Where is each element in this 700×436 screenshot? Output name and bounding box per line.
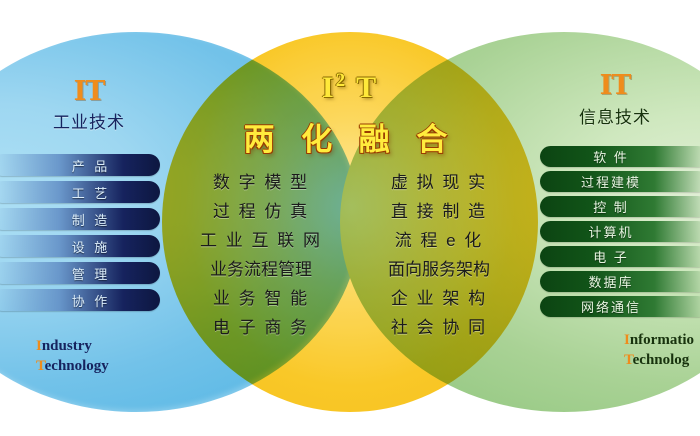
pill-item[interactable]: 电 子 [540,246,700,267]
right-caption-rest-technology: echnolog [633,352,690,368]
pill-item[interactable]: 网络通信 [540,296,700,317]
pill-label: 制 造 [42,210,111,229]
pill-label: 过程建模 [581,172,667,191]
right-caption-rest-information: nformatio [630,332,694,348]
term-item: 直 接 制 造 [354,197,524,226]
center-column-right: 虚 拟 现 实 直 接 制 造 流 程 e 化 面向服务架构 企 业 架 构 社… [354,168,524,342]
term-item: 数 字 模 型 [176,168,346,197]
pill-label: 数据库 [588,272,659,291]
term-item: 虚 拟 现 实 [354,168,524,197]
left-it-logo: IT [14,78,164,105]
center-column-left: 数 字 模 型 过 程 仿 真 工 业 互 联 网 业务流程管理 业 务 智 能… [176,168,346,342]
left-caption-rest-technology: echnology [45,358,109,374]
pill-item[interactable]: 过程建模 [540,171,700,192]
term-item: 企 业 架 构 [354,284,524,313]
left-caption-initial-t: T [36,358,45,374]
pill-label: 协 作 [42,291,111,310]
left-caption-rest-industry: ndustry [42,338,92,354]
right-caption-line-2: Technolog [624,350,694,370]
pill-item[interactable]: 产 品 [0,154,160,176]
pill-item[interactable]: 设 施 [0,235,160,257]
pill-label: 工 艺 [42,183,111,202]
term-item: 社 会 协 同 [354,313,524,342]
pill-item[interactable]: 控 制 [540,196,700,217]
right-header: IT 信息技术 [540,72,690,128]
left-caption-line-1: Industry [36,336,109,356]
pill-label: 产 品 [42,156,111,175]
pill-label: 控 制 [593,197,655,216]
pill-item[interactable]: 工 艺 [0,181,160,203]
pill-item[interactable]: 软 件 [540,146,700,167]
right-caption: Informatio Technolog [624,330,694,371]
term-item: 业务流程管理 [176,255,346,284]
left-title: 工业技术 [14,108,164,133]
pill-item[interactable]: 管 理 [0,262,160,284]
pill-label: 网络通信 [581,297,667,316]
term-item: 过 程 仿 真 [176,197,346,226]
pill-item[interactable]: 制 造 [0,208,160,230]
pill-label: 计算机 [588,222,659,241]
pill-item[interactable]: 计算机 [540,221,700,242]
industry-technology-pill-list: 产 品 工 艺 制 造 设 施 管 理 协 作 [0,154,160,316]
pill-label: 管 理 [42,264,111,283]
right-caption-line-1: Informatio [624,330,694,350]
acronym-i: I [322,71,336,104]
right-caption-initial-t: T [624,352,633,368]
acronym-superscript: 2 [336,70,348,91]
left-header: IT 工业技术 [14,78,164,133]
pill-label: 软 件 [593,147,655,166]
term-item: 工 业 互 联 网 [176,226,346,255]
center-headline: 两 化 融 合 [162,114,538,159]
center-term-columns: 数 字 模 型 过 程 仿 真 工 业 互 联 网 业务流程管理 业 务 智 能… [162,168,538,342]
pill-item[interactable]: 数据库 [540,271,700,292]
i2t-acronym: I2 T [162,70,538,105]
right-it-logo: IT [540,72,690,99]
information-technology-pill-list: 软 件 过程建模 控 制 计算机 电 子 数据库 网络通信 [540,146,700,321]
term-item: 流 程 e 化 [354,226,524,255]
pill-label: 设 施 [42,237,111,256]
acronym-t: T [356,71,378,104]
left-caption: Industry Technology [36,336,109,377]
pill-item[interactable]: 协 作 [0,289,160,311]
term-item: 业 务 智 能 [176,284,346,313]
pill-label: 电 子 [593,247,655,266]
term-item: 电 子 商 务 [176,313,346,342]
venn-diagram-canvas: IT 工业技术 IT 信息技术 产 品 工 艺 制 造 设 施 管 理 协 作 … [0,0,700,436]
left-caption-line-2: Technology [36,356,109,376]
right-title: 信息技术 [540,103,690,128]
term-item: 面向服务架构 [354,255,524,284]
